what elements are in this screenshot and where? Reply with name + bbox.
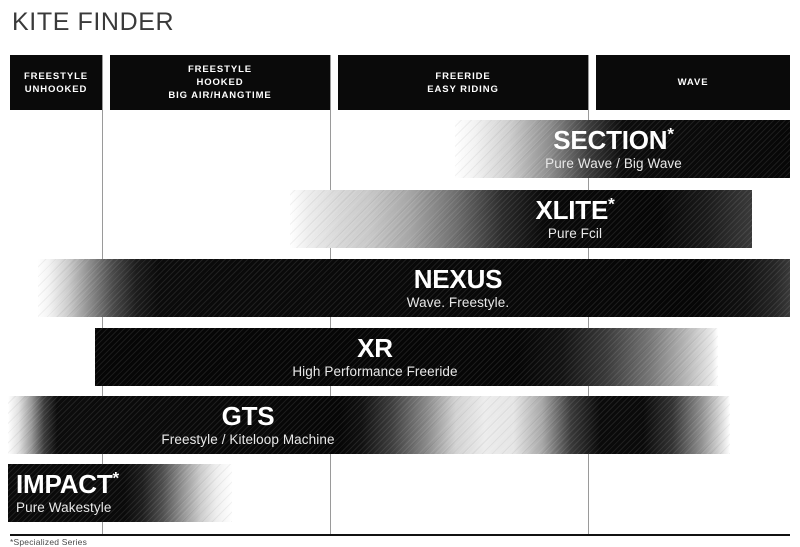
bar-label: XR High Performance Freeride — [245, 328, 505, 386]
column-header-wave[interactable]: WAVE — [596, 55, 790, 110]
column-header-label: FREERIDE EASY RIDING — [423, 70, 503, 96]
product-bar-impact[interactable]: IMPACT* Pure Wakestyle — [8, 464, 232, 522]
product-name: IMPACT* — [16, 471, 119, 497]
footnote: *Specialized Series — [10, 537, 87, 547]
specialized-star: * — [113, 469, 119, 488]
bar-label: NEXUS Wave. Freestyle. — [368, 259, 548, 317]
bar-label: SECTION* Pure Wave / Big Wave — [455, 120, 772, 178]
product-name: NEXUS — [414, 266, 503, 292]
bottom-rule — [10, 534, 790, 536]
column-header-label: WAVE — [674, 76, 713, 89]
column-header-freestyle-unhooked[interactable]: FREESTYLE UNHOOKED — [10, 55, 102, 110]
product-name-text: NEXUS — [414, 264, 503, 294]
product-name: SECTION* — [553, 127, 674, 153]
bar-label: XLITE* Pure Fcil — [480, 190, 670, 248]
product-subtitle: Pure Wakestyle — [16, 501, 111, 515]
product-name: GTS — [222, 403, 275, 429]
column-header-freeride[interactable]: FREERIDE EASY RIDING — [338, 55, 588, 110]
product-bar-gts[interactable]: GTS Freestyle / Kiteloop Machine — [8, 396, 730, 454]
product-name: XLITE* — [535, 197, 614, 223]
specialized-star: * — [667, 125, 673, 144]
column-header-label: FREESTYLE UNHOOKED — [20, 70, 92, 96]
product-bar-xr[interactable]: XR High Performance Freeride — [95, 328, 718, 386]
product-subtitle: Freestyle / Kiteloop Machine — [161, 433, 334, 447]
product-name-text: XLITE — [535, 195, 608, 225]
product-name: XR — [357, 335, 393, 361]
product-subtitle: Wave. Freestyle. — [407, 296, 509, 310]
specialized-star: * — [608, 195, 614, 214]
product-subtitle: Pure Fcil — [548, 227, 602, 241]
product-subtitle: Pure Wave / Big Wave — [545, 157, 682, 171]
product-subtitle: High Performance Freeride — [292, 365, 457, 379]
kite-finder-chart: KITE FINDER FREESTYLE UNHOOKED FREESTYLE… — [0, 0, 800, 547]
product-bar-xlite[interactable]: XLITE* Pure Fcil — [290, 190, 752, 248]
product-bar-section[interactable]: SECTION* Pure Wave / Big Wave — [455, 120, 790, 178]
product-name-text: SECTION — [553, 125, 667, 155]
bar-label: IMPACT* Pure Wakestyle — [16, 464, 216, 522]
product-name-text: GTS — [222, 401, 275, 431]
column-header-band: FREESTYLE UNHOOKED FREESTYLE HOOKED BIG … — [10, 55, 790, 110]
column-header-freestyle-hooked[interactable]: FREESTYLE HOOKED BIG AIR/HANGTIME — [110, 55, 330, 110]
product-name-text: IMPACT — [16, 469, 113, 499]
bar-label: GTS Freestyle / Kiteloop Machine — [103, 396, 393, 454]
page-title: KITE FINDER — [12, 7, 174, 37]
product-name-text: XR — [357, 333, 393, 363]
column-header-label: FREESTYLE HOOKED BIG AIR/HANGTIME — [164, 63, 275, 102]
product-bar-nexus[interactable]: NEXUS Wave. Freestyle. — [38, 259, 790, 317]
